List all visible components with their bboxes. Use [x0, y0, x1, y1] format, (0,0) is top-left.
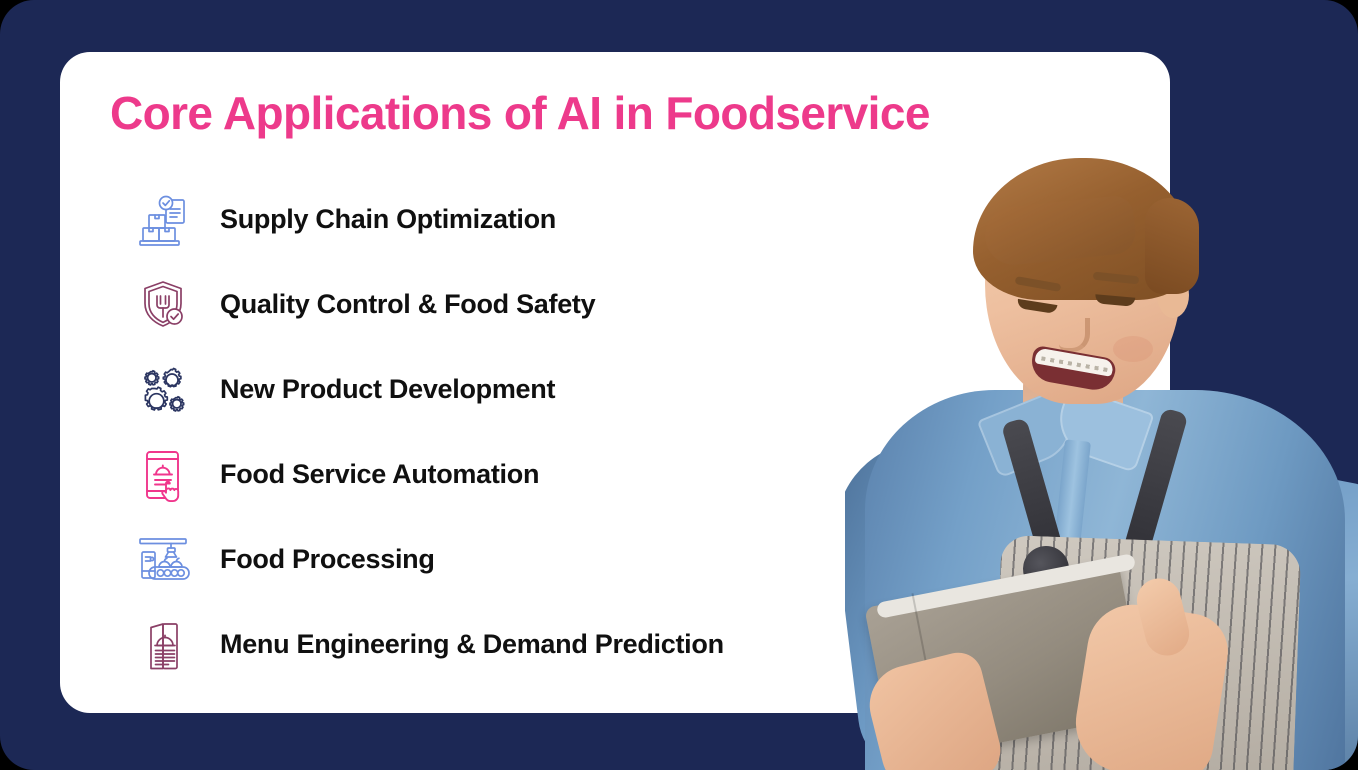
feature-row-new-product[interactable]: New Product Development	[130, 347, 890, 432]
feature-label: Supply Chain Optimization	[220, 204, 556, 235]
feature-label: Food Processing	[220, 544, 435, 575]
page-title: Core Applications of AI in Foodservice	[110, 85, 930, 141]
stacked-boxes-checklist-icon	[130, 187, 196, 253]
gears-icon	[130, 357, 196, 423]
feature-label: Menu Engineering & Demand Prediction	[220, 629, 724, 660]
feature-row-menu-engineering[interactable]: Menu Engineering & Demand Prediction	[130, 602, 890, 687]
feature-list: Supply Chain Optimization Quality Contro…	[130, 177, 890, 687]
feature-row-quality-control[interactable]: Quality Control & Food Safety	[130, 262, 890, 347]
worker-braces	[1041, 356, 1113, 372]
conveyor-belt-produce-icon	[130, 527, 196, 593]
worker-cheek	[1113, 336, 1153, 362]
worker-hair-side	[1145, 198, 1199, 294]
feature-label: New Product Development	[220, 374, 555, 405]
screenshot-stage: Core Applications of AI in Foodservice	[0, 0, 1358, 770]
menu-cloche-icon	[130, 612, 196, 678]
shield-fork-check-icon	[130, 272, 196, 338]
feature-label: Food Service Automation	[220, 459, 539, 490]
feature-row-supply-chain[interactable]: Supply Chain Optimization	[130, 177, 890, 262]
navy-frame: Core Applications of AI in Foodservice	[0, 0, 1358, 770]
foodservice-worker-photo	[845, 140, 1358, 770]
feature-label: Quality Control & Food Safety	[220, 289, 595, 320]
feature-row-service-automation[interactable]: Food Service Automation	[130, 432, 890, 517]
mobile-food-order-tap-icon	[130, 442, 196, 508]
feature-row-food-processing[interactable]: Food Processing	[130, 517, 890, 602]
